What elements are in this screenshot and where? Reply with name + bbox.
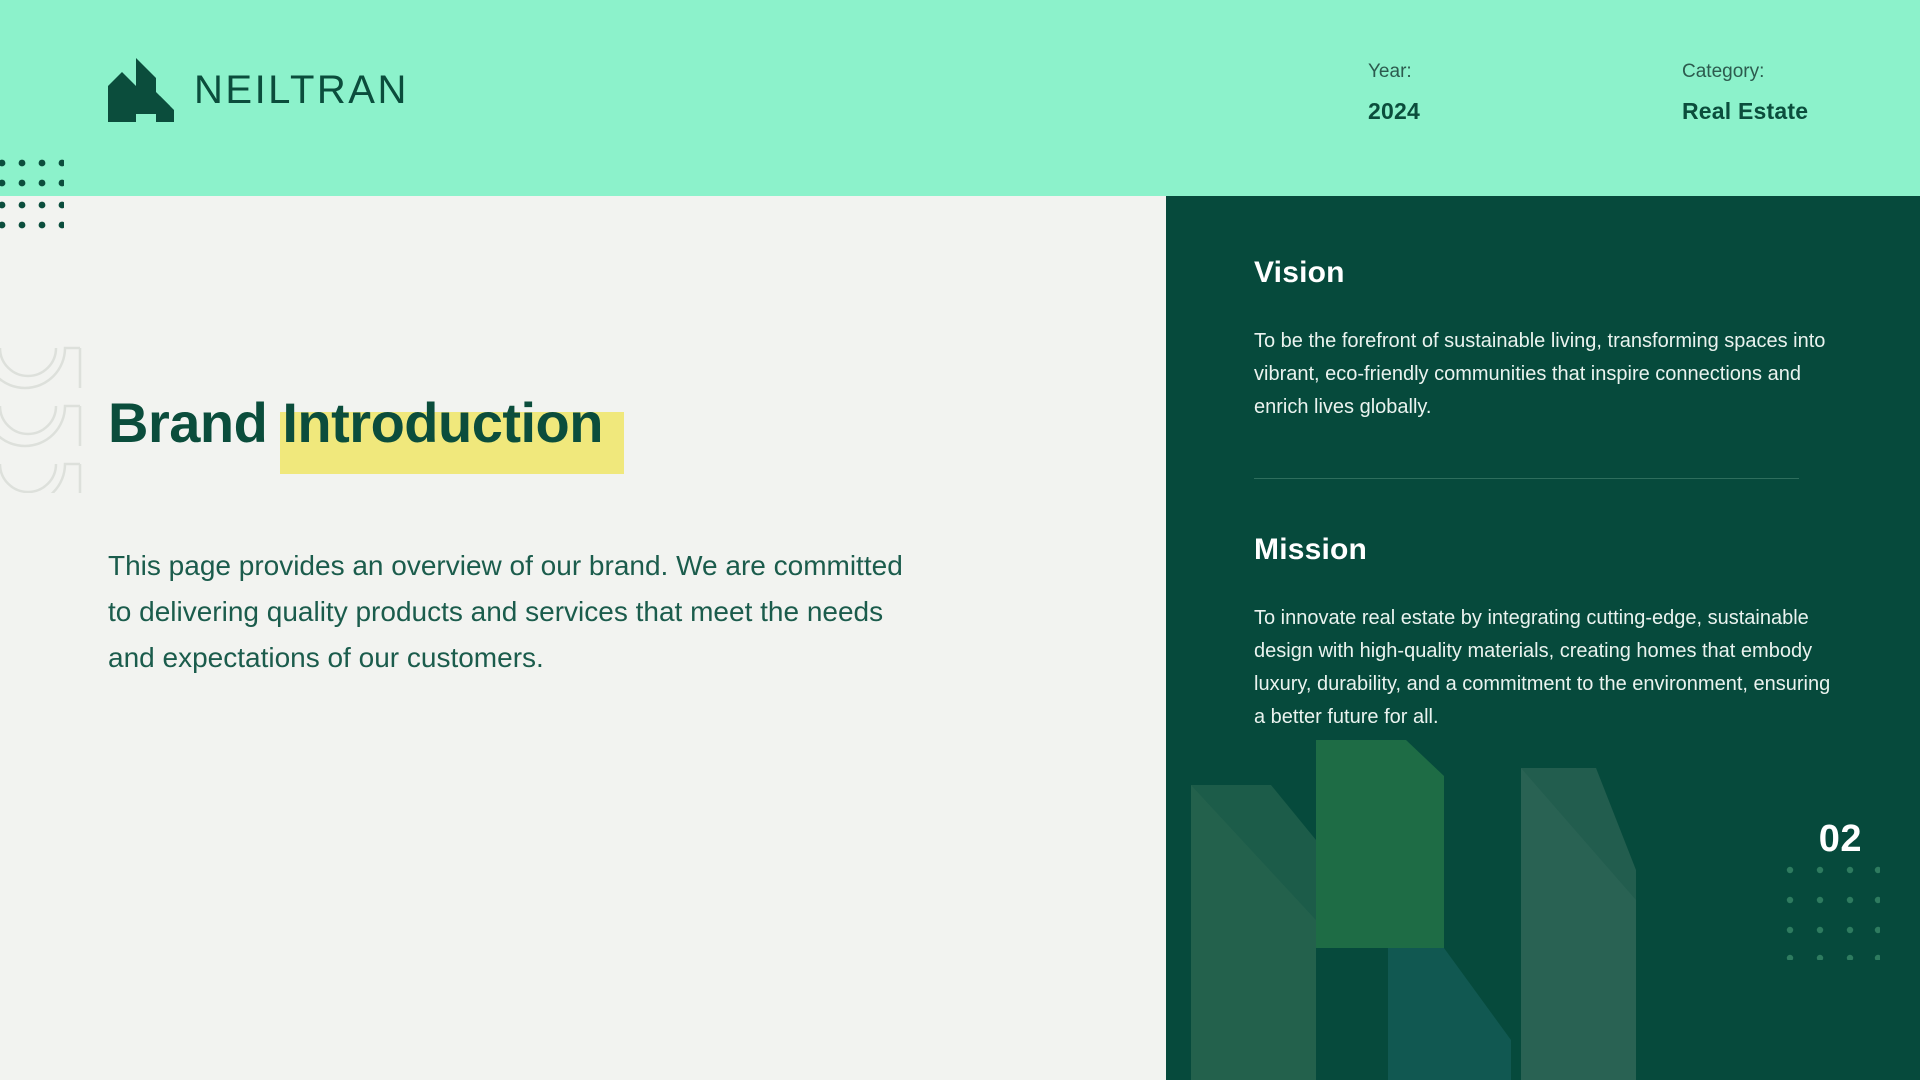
main-content: Brand Introduction This page provides an…	[108, 390, 1008, 681]
meta-category-value: Real Estate	[1682, 99, 1808, 124]
slide-header: NEILTRAN Year: 2024 Category: Real Estat…	[0, 0, 1920, 196]
brand-logo-group[interactable]: NEILTRAN	[108, 58, 409, 122]
vision-mission-panel: Vision To be the forefront of sustainabl…	[1166, 196, 1920, 1080]
mission-heading: Mission	[1254, 533, 1834, 566]
panel-inner: Vision To be the forefront of sustainabl…	[1166, 196, 1920, 734]
mission-section: Mission To innovate real estate by integ…	[1254, 533, 1834, 734]
meta-year-label: Year:	[1368, 62, 1420, 83]
page-title-plain: Brand	[108, 391, 282, 454]
vision-heading: Vision	[1254, 256, 1834, 289]
brand-wordmark: NEILTRAN	[194, 70, 409, 110]
panel-divider	[1254, 478, 1799, 479]
page-number: 02	[1819, 820, 1862, 858]
meta-year-value: 2024	[1368, 99, 1420, 124]
page-title: Brand Introduction	[108, 390, 603, 455]
dot-grid-icon	[0, 155, 64, 233]
meta-category-label: Category:	[1682, 62, 1808, 83]
vision-body: To be the forefront of sustainable livin…	[1254, 325, 1834, 424]
vision-section: Vision To be the forefront of sustainabl…	[1254, 256, 1834, 424]
dot-grid-icon	[1784, 864, 1880, 960]
meta-year: Year: 2024	[1368, 62, 1420, 124]
body-paragraph: This page provides an overview of our br…	[108, 543, 908, 681]
page-title-highlight-wrap: Introduction	[282, 390, 603, 455]
scallop-arch-pattern-icon	[0, 318, 105, 493]
mission-body: To innovate real estate by integrating c…	[1254, 602, 1834, 734]
slide-root: NEILTRAN Year: 2024 Category: Real Estat…	[0, 0, 1920, 1080]
page-title-highlighted: Introduction	[282, 391, 603, 454]
meta-category: Category: Real Estate	[1682, 62, 1808, 124]
building-blocks-logo-icon	[108, 58, 174, 122]
